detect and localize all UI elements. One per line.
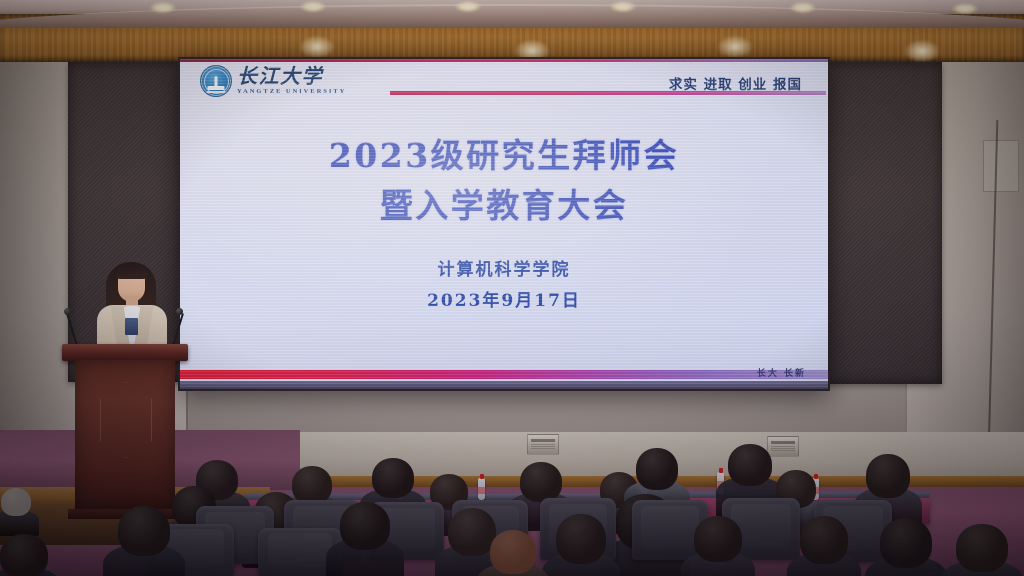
auditorium-scene: 长江大学 YANGTZE UNIVERSITY 求实 进取 创业 报国 2023… <box>0 0 1024 576</box>
audience-person <box>694 516 742 576</box>
wall-spotlight <box>905 40 939 62</box>
audience-person <box>956 524 1008 576</box>
slide-footer-note: 长大 长新 <box>757 366 806 379</box>
speaker-name-badge <box>125 318 138 335</box>
lectern-body <box>75 360 175 510</box>
seal-base <box>208 86 225 90</box>
slide-title-block: 2023级研究生拜师会 暨入学教育大会 <box>180 131 828 230</box>
person-head <box>490 530 536 574</box>
presentation-slide: 长江大学 YANGTZE UNIVERSITY 求实 进取 创业 报国 2023… <box>180 59 828 389</box>
ceiling-downlight <box>300 1 326 12</box>
person-head <box>118 506 170 556</box>
ceiling-downlight <box>455 1 481 12</box>
person-head <box>1 488 31 516</box>
university-logo: 长江大学 YANGTZE UNIVERSITY <box>200 65 346 97</box>
projection-screen: 长江大学 YANGTZE UNIVERSITY 求实 进取 创业 报国 2023… <box>178 57 830 391</box>
lectern-hex-panel <box>100 382 152 458</box>
person-head <box>800 516 848 564</box>
audience-person <box>556 514 606 576</box>
slide-title-line-1: 2023级研究生拜师会 <box>180 131 828 181</box>
logo-name-en: YANGTZE UNIVERSITY <box>237 89 346 96</box>
slide-subtitle-block: 计算机科学学院 2023年9月17日 <box>180 255 828 318</box>
person-head <box>340 502 390 550</box>
person-head <box>636 448 678 490</box>
slide-title-line-2: 暨入学教育大会 <box>180 181 828 231</box>
ceiling-downlight <box>150 2 176 13</box>
logo-name-cn: 长江大学 <box>237 67 346 87</box>
acoustic-panel-right <box>822 62 942 384</box>
ceiling-downlight <box>952 3 978 14</box>
speaker-fringe <box>116 265 147 279</box>
person-head <box>0 534 48 576</box>
water-bottle <box>478 478 485 500</box>
person-head <box>448 508 496 556</box>
slide-bottom-edge <box>180 381 828 389</box>
wall-spotlight <box>718 36 752 58</box>
university-motto: 求实 进取 创业 报国 <box>669 73 802 93</box>
lectern-top <box>62 344 188 361</box>
lectern <box>62 344 188 519</box>
university-seal-icon <box>200 65 232 97</box>
ceiling-downlight <box>790 2 816 13</box>
audience-person <box>448 508 496 576</box>
person-head <box>956 524 1008 572</box>
wall-spotlight <box>300 36 334 58</box>
audience-person <box>800 516 848 576</box>
audience-person <box>490 530 536 576</box>
seal-wave-icon <box>207 91 226 93</box>
logo-text-block: 长江大学 YANGTZE UNIVERSITY <box>237 67 346 96</box>
audience-person <box>0 534 48 576</box>
audience-person <box>118 506 170 576</box>
person-head <box>880 518 932 568</box>
person-head <box>694 516 742 562</box>
audience-person <box>880 518 932 576</box>
wall-plaque <box>527 434 559 455</box>
slide-top-accent-bar <box>180 59 828 62</box>
wall-mounted-box <box>983 140 1019 192</box>
ceiling-downlight <box>610 1 636 12</box>
person-head <box>520 462 562 502</box>
slide-subtitle-organization: 计算机科学学院 <box>180 255 828 286</box>
audience-person <box>340 502 390 576</box>
microphone-head-right <box>176 308 183 315</box>
person-head <box>556 514 606 564</box>
slide-footer-accent-bar <box>180 370 828 379</box>
person-head <box>728 444 772 486</box>
slide-subtitle-date: 2023年9月17日 <box>180 286 828 317</box>
person-head <box>866 454 910 498</box>
microphone-head-left <box>64 308 71 315</box>
person-head <box>292 466 332 504</box>
person-head <box>372 458 414 498</box>
